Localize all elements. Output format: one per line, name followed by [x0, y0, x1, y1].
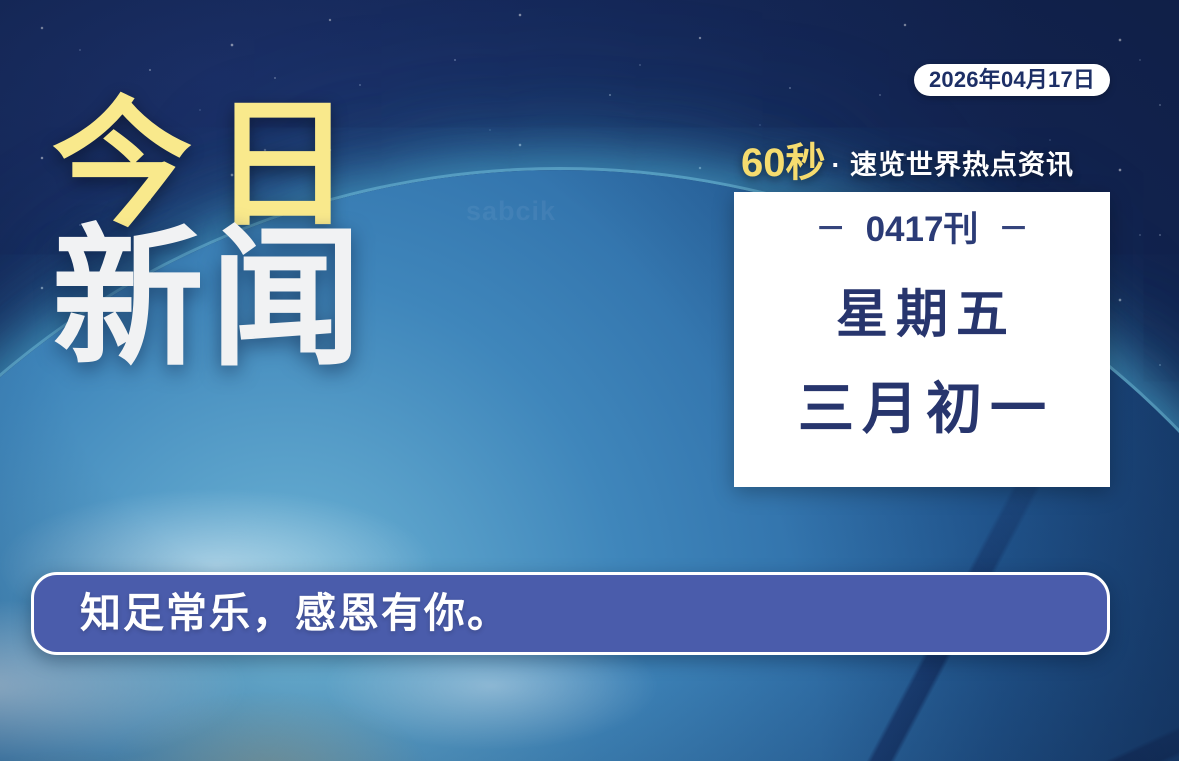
- tagline-seconds: 60秒: [741, 143, 826, 183]
- tagline-description: · 速览世界热点资讯: [832, 152, 1075, 179]
- issue-dash-left: －: [816, 215, 846, 245]
- brand-title-line-1: 今日: [52, 96, 472, 233]
- quote-text: 知足常乐，感恩有你。: [80, 593, 510, 634]
- info-card: － 0417刊 － 星期五 三月初一: [734, 192, 1110, 487]
- watermark-text: sabcik: [466, 196, 556, 227]
- issue-row: － 0417刊 －: [816, 212, 1029, 247]
- weekday-label: 星期五: [828, 289, 1016, 341]
- news-poster: 2026年04月17日 今日 新闻 sabcik 60秒 · 速览世界热点资讯 …: [0, 0, 1179, 761]
- lunar-date-label: 三月初一: [790, 381, 1054, 437]
- date-badge: 2026年04月17日: [914, 64, 1110, 96]
- quote-banner: 知足常乐，感恩有你。: [31, 572, 1110, 655]
- date-badge-label: 2026年04月17日: [929, 69, 1095, 91]
- brand-title-line-2: 新闻: [52, 225, 472, 374]
- issue-dash-right: －: [998, 215, 1028, 245]
- tagline: 60秒 · 速览世界热点资讯: [741, 143, 1074, 183]
- issue-number: 0417刊: [866, 212, 979, 247]
- poster-content: 2026年04月17日 今日 新闻 sabcik 60秒 · 速览世界热点资讯 …: [0, 0, 1179, 761]
- brand-title: 今日 新闻: [52, 96, 472, 374]
